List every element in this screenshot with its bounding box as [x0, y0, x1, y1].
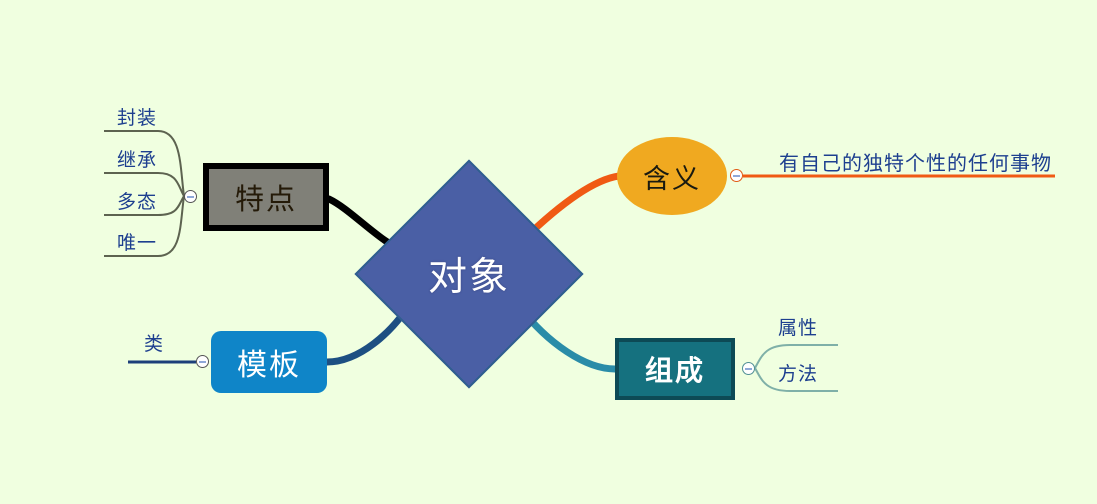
minus-icon: [187, 196, 194, 198]
branch-node-tedian[interactable]: 特点: [203, 163, 329, 231]
minus-icon: [199, 361, 206, 363]
leaf-tedian-3[interactable]: 唯一: [117, 228, 157, 255]
leaf-zucheng-1[interactable]: 方法: [778, 359, 818, 386]
mindmap-canvas: 对象 特点 封装 继承 多态 唯一 含义 有自己的独特个性的任何事物 模板 类 …: [0, 0, 1097, 504]
branch-node-muban-label: 模板: [237, 340, 301, 384]
leaf-muban-0[interactable]: 类: [144, 329, 164, 356]
branch-node-zucheng[interactable]: 组成: [615, 338, 735, 400]
leaf-tedian-2[interactable]: 多态: [117, 187, 157, 214]
branch-node-hanyi[interactable]: 含义: [617, 137, 727, 215]
minus-icon: [733, 175, 740, 177]
branch-node-muban[interactable]: 模板: [211, 331, 327, 393]
collapse-toggle-hanyi[interactable]: [730, 169, 743, 182]
leaf-zucheng-0[interactable]: 属性: [778, 313, 818, 340]
collapse-toggle-zucheng[interactable]: [742, 362, 755, 375]
minus-icon: [745, 368, 752, 370]
root-node-label: 对象: [428, 246, 510, 302]
collapse-toggle-muban[interactable]: [196, 355, 209, 368]
collapse-toggle-tedian[interactable]: [184, 190, 197, 203]
leaf-tedian-0[interactable]: 封装: [117, 103, 157, 130]
branch-node-hanyi-label: 含义: [643, 157, 701, 196]
branch-node-zucheng-label: 组成: [645, 349, 705, 389]
leaf-tedian-1[interactable]: 继承: [117, 145, 157, 172]
branch-node-tedian-label: 特点: [235, 176, 297, 218]
root-node-object[interactable]: 对象: [388, 193, 550, 355]
leaf-hanyi-0[interactable]: 有自己的独特个性的任何事物: [779, 147, 1052, 176]
